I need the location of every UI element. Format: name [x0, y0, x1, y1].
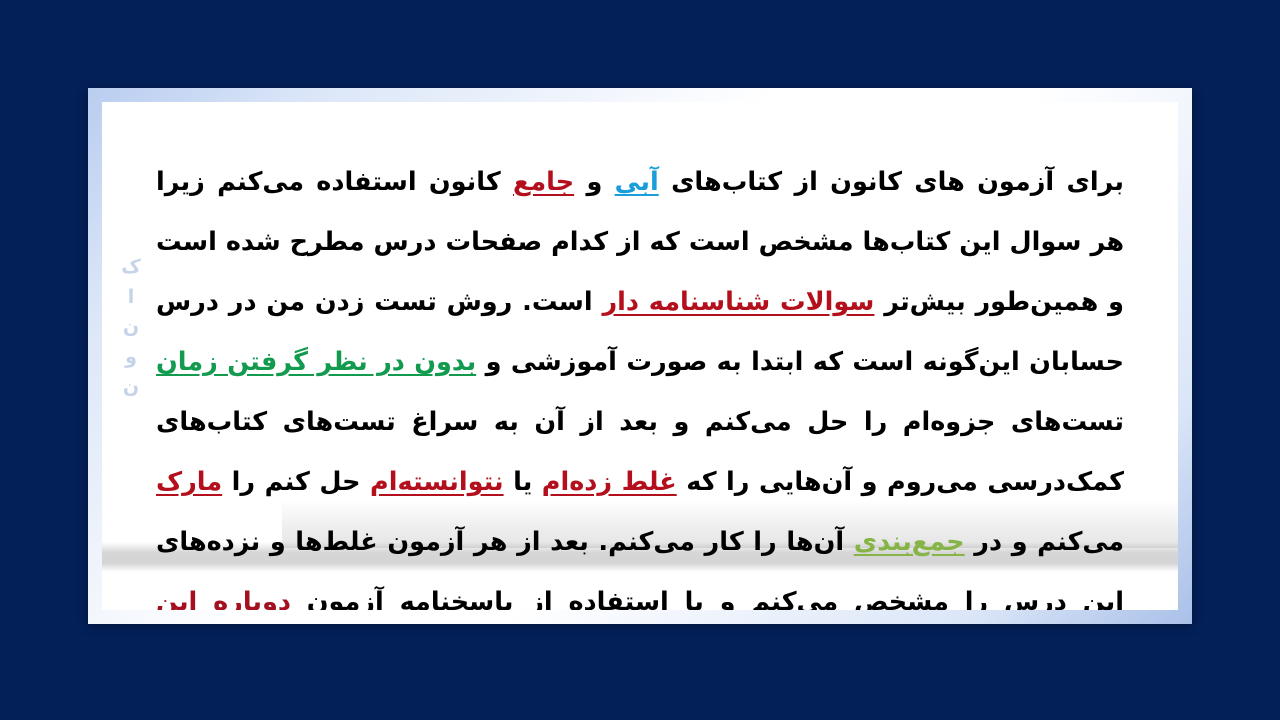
text-run: یا — [504, 467, 542, 497]
highlight-blue: آبی — [615, 167, 659, 197]
paragraph: برای آزمون های کانون از کتاب‌های آبی و ج… — [156, 152, 1124, 610]
highlight-red: نتوانسته‌ام — [370, 467, 504, 497]
text-run: حل کنم را — [222, 467, 370, 497]
highlight-red: مارک — [156, 467, 222, 497]
highlight-light-green: جمع‌بندی — [854, 527, 965, 557]
content-card-frame: کانون برای آزمون های کانون از کتاب‌های آ… — [88, 88, 1192, 624]
highlight-red: سوالات شناسنامه دار — [602, 287, 874, 317]
text-run: آزمون — [291, 587, 400, 610]
text-run: و — [574, 167, 614, 197]
slide-body-text: برای آزمون های کانون از کتاب‌های آبی و ج… — [102, 102, 1178, 610]
content-card: کانون برای آزمون های کانون از کتاب‌های آ… — [102, 102, 1178, 610]
text-run: برای آزمون های کانون از کتاب‌های — [659, 167, 1124, 197]
slide-canvas: کانون برای آزمون های کانون از کتاب‌های آ… — [0, 0, 1280, 720]
highlight-red: جامع — [513, 167, 574, 197]
highlight-green: بدون در نظر گرفتن زمان — [156, 347, 476, 377]
underlined-text: پاسخنامه — [400, 587, 514, 610]
highlight-red: غلط زده‌ام — [542, 467, 677, 497]
text-run: می‌کنم و در — [965, 527, 1124, 557]
